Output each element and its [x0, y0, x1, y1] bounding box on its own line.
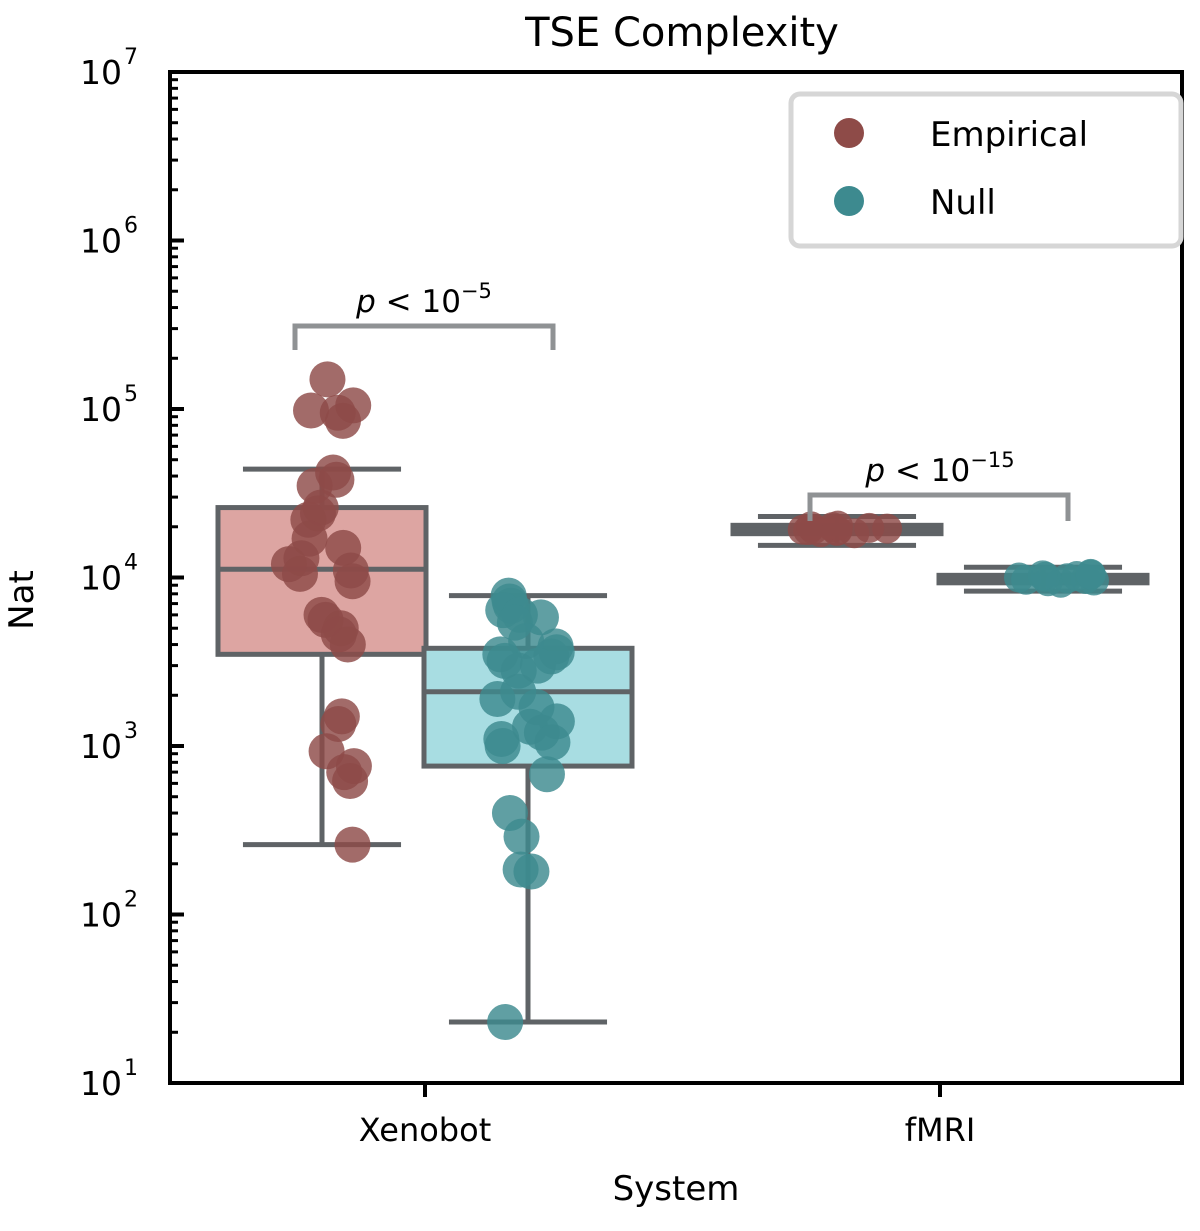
data-point: [487, 1004, 523, 1040]
y-tick-label: 10: [80, 727, 122, 766]
legend: Empirical Null: [791, 94, 1181, 246]
data-point: [504, 819, 540, 855]
y-tick-exponent: 7: [124, 45, 138, 70]
y-tick-label: 10: [80, 53, 122, 92]
p-symbol: p: [355, 284, 376, 320]
data-point: [1028, 560, 1058, 590]
data-point: [485, 728, 521, 764]
data-point: [309, 361, 345, 397]
data-point: [282, 556, 318, 592]
chart-root: TSE Complexity 107106105104103102101 Nat…: [0, 0, 1200, 1231]
data-point: [854, 513, 884, 543]
data-point: [534, 724, 570, 760]
data-point: [335, 563, 371, 599]
p-exponent: −5: [461, 279, 492, 303]
y-axis-label: Nat: [2, 570, 42, 630]
data-point: [513, 853, 549, 889]
y-tick-exponent: 2: [124, 888, 138, 913]
y-tick-label: 10: [80, 1064, 122, 1103]
x-tick-label-fmri: fMRI: [905, 1111, 976, 1149]
y-tick-label: 10: [80, 896, 122, 935]
y-tick-exponent: 4: [124, 551, 138, 576]
tse-complexity-box-plot: TSE Complexity 107106105104103102101 Nat…: [0, 0, 1200, 1231]
data-point: [1076, 559, 1106, 589]
less-than-symbol: <: [885, 453, 931, 489]
legend-label-null: Null: [930, 183, 996, 223]
p-symbol: p: [864, 453, 885, 489]
legend-label-empirical: Empirical: [930, 115, 1088, 155]
p-base: 10: [931, 453, 970, 489]
data-point: [823, 511, 853, 541]
p-exponent: −15: [970, 448, 1014, 472]
data-point: [330, 627, 366, 663]
y-tick-exponent: 6: [124, 214, 138, 239]
y-tick-exponent: 5: [124, 382, 138, 407]
data-point: [332, 763, 368, 799]
y-tick-label: 10: [80, 559, 122, 598]
data-point: [325, 403, 361, 439]
legend-marker-null: [834, 186, 864, 216]
x-tick-label-xenobot: Xenobot: [359, 1111, 491, 1149]
y-tick-exponent: 1: [124, 1056, 138, 1081]
y-tick-exponent: 3: [124, 719, 138, 744]
less-than-symbol: <: [376, 284, 422, 320]
y-tick-label: 10: [80, 390, 122, 429]
data-point: [529, 756, 565, 792]
data-point: [334, 827, 370, 863]
data-point: [479, 681, 515, 717]
p-base: 10: [421, 284, 460, 320]
legend-marker-empirical: [834, 118, 864, 148]
y-tick-label: 10: [80, 222, 122, 261]
chart-title: TSE Complexity: [524, 10, 839, 56]
x-axis-label: System: [613, 1169, 740, 1209]
